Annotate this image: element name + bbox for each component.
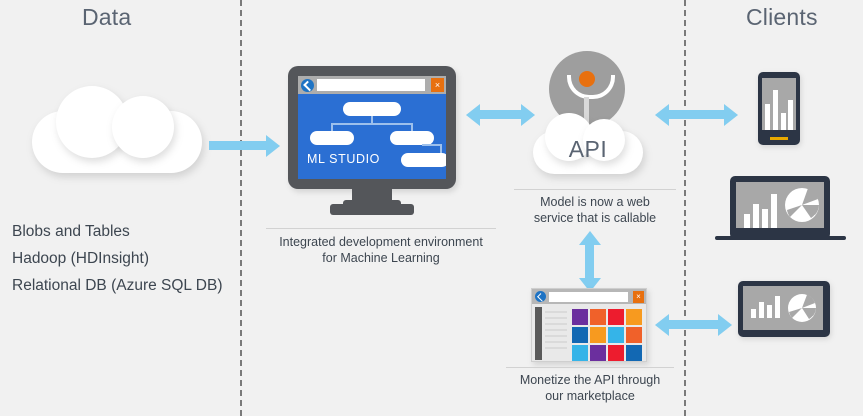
- data-sources-list: Blobs and Tables Hadoop (HDInsight) Rela…: [12, 218, 222, 299]
- marketplace-tile[interactable]: [626, 345, 642, 361]
- back-arrow-icon[interactable]: [535, 291, 546, 302]
- column-title-clients: Clients: [746, 4, 818, 31]
- data-source-item: Relational DB (Azure SQL DB): [12, 272, 222, 299]
- caption-line: our marketplace: [506, 388, 674, 404]
- api-caption: Model is now a web service that is calla…: [514, 194, 676, 226]
- marketplace-caption: Monetize the API through our marketplace: [506, 372, 674, 404]
- phone-screen: [762, 78, 796, 130]
- back-arrow-icon[interactable]: [301, 79, 314, 92]
- ml-studio-label: ML STUDIO: [307, 152, 380, 166]
- laptop-base: [715, 236, 846, 240]
- caption-rule-api: [514, 189, 676, 190]
- caption-line: service that is callable: [514, 210, 676, 226]
- caption-rule-studio: [266, 228, 496, 229]
- marketplace-tile[interactable]: [590, 345, 606, 361]
- data-source-item: Blobs and Tables: [12, 218, 222, 245]
- caption-rule-marketplace: [506, 367, 674, 368]
- divider-api-clients: [684, 0, 686, 416]
- divider-data-studio: [240, 0, 242, 416]
- marketplace-tile[interactable]: [626, 327, 642, 343]
- marketplace-tile[interactable]: [608, 327, 624, 343]
- marketplace-toolbar: ×: [532, 289, 646, 304]
- address-bar-input[interactable]: [317, 79, 425, 91]
- flow-wire: [411, 123, 413, 131]
- close-icon[interactable]: ×: [633, 291, 644, 303]
- marketplace-window: ×: [531, 288, 647, 362]
- marketplace-tile[interactable]: [572, 345, 588, 361]
- ml-studio-caption: Integrated development environment for M…: [266, 234, 496, 266]
- api-label: API: [549, 136, 627, 163]
- caption-line: Integrated development environment: [266, 234, 496, 250]
- tablet-screen: [743, 286, 823, 330]
- marketplace-tile[interactable]: [590, 327, 606, 343]
- dish-focus-dot: [579, 71, 595, 87]
- flow-node-root: [343, 102, 401, 116]
- marketplace-left-rail: [535, 307, 542, 360]
- marketplace-tile[interactable]: [608, 309, 624, 325]
- ml-studio-screen: × ML STUDIO: [298, 76, 446, 179]
- caption-line: Model is now a web: [514, 194, 676, 210]
- phone-home-indicator: [770, 137, 788, 140]
- monitor-base: [330, 204, 414, 215]
- monitor-neck: [352, 186, 392, 206]
- diagram-canvas: Data Clients Blobs and Tables Hadoop (HD…: [0, 0, 863, 416]
- close-icon[interactable]: ×: [431, 78, 444, 92]
- flow-wire: [331, 123, 413, 125]
- flow-node-bottom: [401, 153, 446, 167]
- flow-node-left: [310, 131, 354, 145]
- client-phone-icon: [758, 72, 800, 145]
- caption-line: for Machine Learning: [266, 250, 496, 266]
- browser-toolbar: ×: [298, 76, 446, 94]
- flow-node-right: [390, 131, 434, 145]
- flow-wire: [422, 144, 442, 146]
- column-title-data: Data: [82, 4, 131, 31]
- marketplace-tile[interactable]: [572, 327, 588, 343]
- flow-wire: [331, 123, 333, 131]
- pie-chart-icon: [787, 293, 817, 323]
- client-tablet-icon: [738, 281, 830, 337]
- data-source-item: Hadoop (HDInsight): [12, 245, 222, 272]
- marketplace-tile[interactable]: [608, 345, 624, 361]
- marketplace-tile[interactable]: [626, 309, 642, 325]
- marketplace-tile[interactable]: [590, 309, 606, 325]
- laptop-screen: [736, 182, 824, 228]
- caption-line: Monetize the API through: [506, 372, 674, 388]
- marketplace-tile[interactable]: [572, 309, 588, 325]
- marketplace-side-lines: [545, 311, 567, 353]
- address-bar-input[interactable]: [549, 292, 628, 302]
- marketplace-tile-grid: [572, 309, 642, 361]
- pie-chart-icon: [784, 187, 820, 223]
